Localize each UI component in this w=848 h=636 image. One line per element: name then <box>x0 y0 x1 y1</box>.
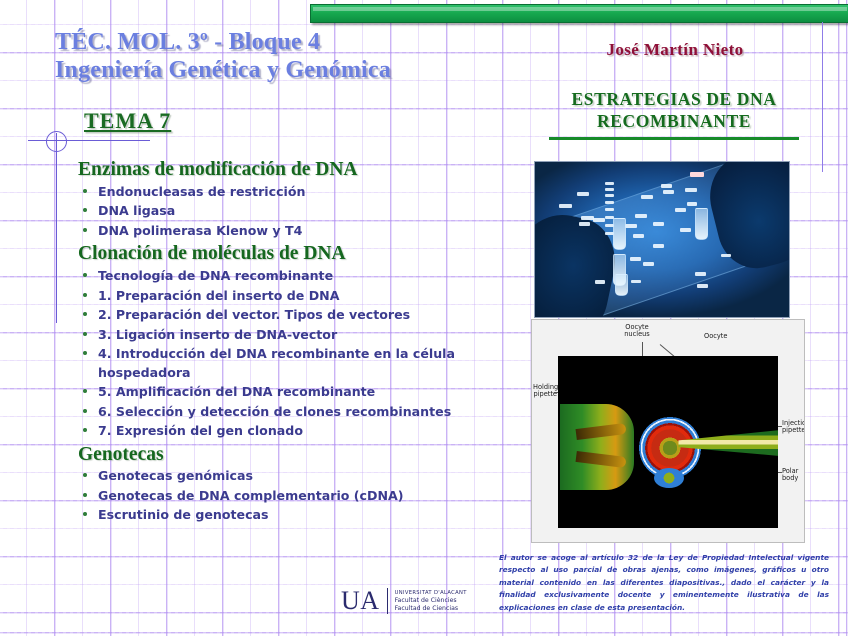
course-title-line1: TÉC. MOL. 3º - Bloque 4 <box>55 29 320 55</box>
label-line2: nucleus <box>624 330 650 338</box>
dna-band <box>661 184 672 188</box>
microinjection-image: Oocyte nucleus Oocyte Holding pipette In… <box>532 320 804 542</box>
dna-band <box>605 208 614 211</box>
list-item: 5. Amplificación del DNA recombinante <box>78 383 518 402</box>
holding-pipette-shape <box>560 404 634 490</box>
dna-band <box>577 192 589 196</box>
bullet-dot-icon <box>83 428 87 432</box>
dna-band <box>605 194 614 197</box>
title-underline <box>549 137 799 140</box>
list-item-label: 7. Expresión del gen clonado <box>98 423 303 438</box>
label-line1: Oocyte <box>704 332 727 340</box>
microscopy-stage <box>558 356 778 528</box>
dna-band <box>643 262 654 266</box>
bullet-dot-icon <box>83 409 87 413</box>
list-item: 1. Preparación del inserto de DNA <box>78 287 518 306</box>
list-item: 7. Expresión del gen clonado <box>78 422 518 441</box>
list-item-label: 6. Selección y detección de clones recom… <box>98 404 451 419</box>
decorative-vertical-line <box>56 133 57 323</box>
list-item-label: 1. Preparación del inserto de DNA <box>98 288 339 303</box>
list-item-label: Escrutinio de genotecas <box>98 507 269 522</box>
list-item: 3. Ligación inserto de DNA-vector <box>78 326 518 345</box>
dna-band <box>595 280 605 284</box>
bullet-dot-icon <box>83 332 87 336</box>
bullet-list: Endonucleasas de restricción DNA ligasa … <box>78 183 518 241</box>
dna-band <box>635 214 647 218</box>
polar-body-shape <box>654 468 684 488</box>
label-line2: body <box>782 474 798 482</box>
list-item: Tecnología de DNA recombinante <box>78 267 518 286</box>
list-item-label: 2. Preparación del vector. Tipos de vect… <box>98 307 410 322</box>
list-item-label: DNA ligasa <box>98 203 175 218</box>
dna-band <box>605 182 614 185</box>
label-oocyte: Oocyte <box>704 333 727 340</box>
sample-tube <box>615 274 628 296</box>
dna-band <box>559 204 572 208</box>
presentation-title-line1: ESTRATEGIAS DE DNA <box>572 89 777 109</box>
top-green-bar <box>310 4 848 23</box>
bullet-dot-icon <box>83 473 87 477</box>
list-item: DNA polimerasa Klenow y T4 <box>78 222 518 241</box>
list-item-label: Endonucleasas de restricción <box>98 184 305 199</box>
dna-band <box>605 201 614 204</box>
list-item-label: 4. Introducción del DNA recombinante en … <box>98 346 455 380</box>
copyright-disclaimer: El autor se acoge al artículo 32 de la L… <box>499 552 829 614</box>
dna-band <box>680 228 691 232</box>
dna-band <box>641 195 653 199</box>
pipette-slit <box>576 451 627 468</box>
dna-band <box>653 222 664 226</box>
ua-logo-line1: UNIVERSITAT D'ALACANT <box>395 590 467 596</box>
sample-tube <box>695 208 708 240</box>
dna-band <box>593 218 605 222</box>
dna-band <box>697 284 708 288</box>
bullet-dot-icon <box>83 351 87 355</box>
dna-band <box>630 257 641 261</box>
list-item: Genotecas genómicas <box>78 467 518 486</box>
bullet-dot-icon <box>83 493 87 497</box>
list-item-label: 3. Ligación inserto de DNA-vector <box>98 327 337 342</box>
dna-band <box>625 224 637 228</box>
bullet-dot-icon <box>83 389 87 393</box>
ua-logo-line2: Facultat de Ciències <box>395 597 467 604</box>
bullet-dot-icon <box>83 273 87 277</box>
dna-band <box>685 188 697 192</box>
page-title: TEMA 7 <box>84 108 171 134</box>
bullet-dot-icon <box>83 312 87 316</box>
bullet-dot-icon <box>83 189 87 193</box>
dna-band <box>663 190 674 194</box>
list-item: Endonucleasas de restricción <box>78 183 518 202</box>
decorative-circle-icon <box>46 131 67 152</box>
list-item-label: Genotecas genómicas <box>98 468 253 483</box>
presentation-title: ESTRATEGIAS DE DNA RECOMBINANTE <box>500 89 848 140</box>
dna-band <box>687 202 697 206</box>
bullet-dot-icon <box>83 228 87 232</box>
label-injection-pipette: Injection pipette <box>782 420 804 435</box>
list-item: 6. Selección y detección de clones recom… <box>78 403 518 422</box>
dna-band <box>675 208 686 212</box>
list-item-label: DNA polimerasa Klenow y T4 <box>98 223 302 238</box>
list-item-label: Genotecas de DNA complementario (cDNA) <box>98 488 404 503</box>
list-item-label: Tecnología de DNA recombinante <box>98 268 333 283</box>
presentation-title-line2: RECOMBINANTE <box>597 111 751 131</box>
dna-band <box>633 234 644 238</box>
gel-electrophoresis-image <box>535 162 789 317</box>
bullet-dot-icon <box>83 208 87 212</box>
ua-logo-mark: UA <box>341 588 388 614</box>
bullet-dot-icon <box>83 512 87 516</box>
dna-band <box>721 254 731 257</box>
list-item: 2. Preparación del vector. Tipos de vect… <box>78 306 518 325</box>
list-item: Genotecas de DNA complementario (cDNA) <box>78 487 518 506</box>
dna-band <box>631 280 641 283</box>
slide-canvas: TÉC. MOL. 3º - Bloque 4 Ingeniería Genét… <box>0 0 848 636</box>
section-heading: Enzimas de modificación de DNA <box>78 158 518 182</box>
list-item-label: 5. Amplificación del DNA recombinante <box>98 384 375 399</box>
course-title-line2: Ingeniería Genética y Genómica <box>55 57 475 85</box>
dna-band <box>579 222 590 226</box>
ua-logo-text: UNIVERSITAT D'ALACANT Facultat de Ciènci… <box>395 590 467 612</box>
ua-logo-line3: Facultad de Ciencias <box>395 605 467 612</box>
section-heading: Clonación de moléculas de DNA <box>78 242 518 266</box>
pipette-slit <box>576 423 627 440</box>
dna-band <box>690 172 704 177</box>
dna-band <box>695 272 706 276</box>
dna-band <box>605 188 614 191</box>
label-line2: pipette <box>782 426 804 434</box>
author-name: José Martín Nieto <box>545 40 805 60</box>
bullet-dot-icon <box>83 293 87 297</box>
dna-band <box>653 244 664 248</box>
list-item: Escrutinio de genotecas <box>78 506 518 525</box>
list-item: 4. Introducción del DNA recombinante en … <box>78 345 518 382</box>
label-polar-body: Polar body <box>782 468 798 483</box>
course-title: TÉC. MOL. 3º - Bloque 4 Ingeniería Genét… <box>55 29 475 85</box>
list-item: DNA ligasa <box>78 202 518 221</box>
bullet-list: Tecnología de DNA recombinante 1. Prepar… <box>78 267 518 441</box>
outline-content: Enzimas de modificación de DNA Endonucle… <box>78 158 518 527</box>
ua-logo: UA UNIVERSITAT D'ALACANT Facultat de Ciè… <box>341 588 467 614</box>
sample-tube <box>613 218 626 250</box>
bullet-list: Genotecas genómicas Genotecas de DNA com… <box>78 467 518 525</box>
section-heading: Genotecas <box>78 443 518 467</box>
label-oocyte-nucleus: Oocyte nucleus <box>614 324 660 339</box>
